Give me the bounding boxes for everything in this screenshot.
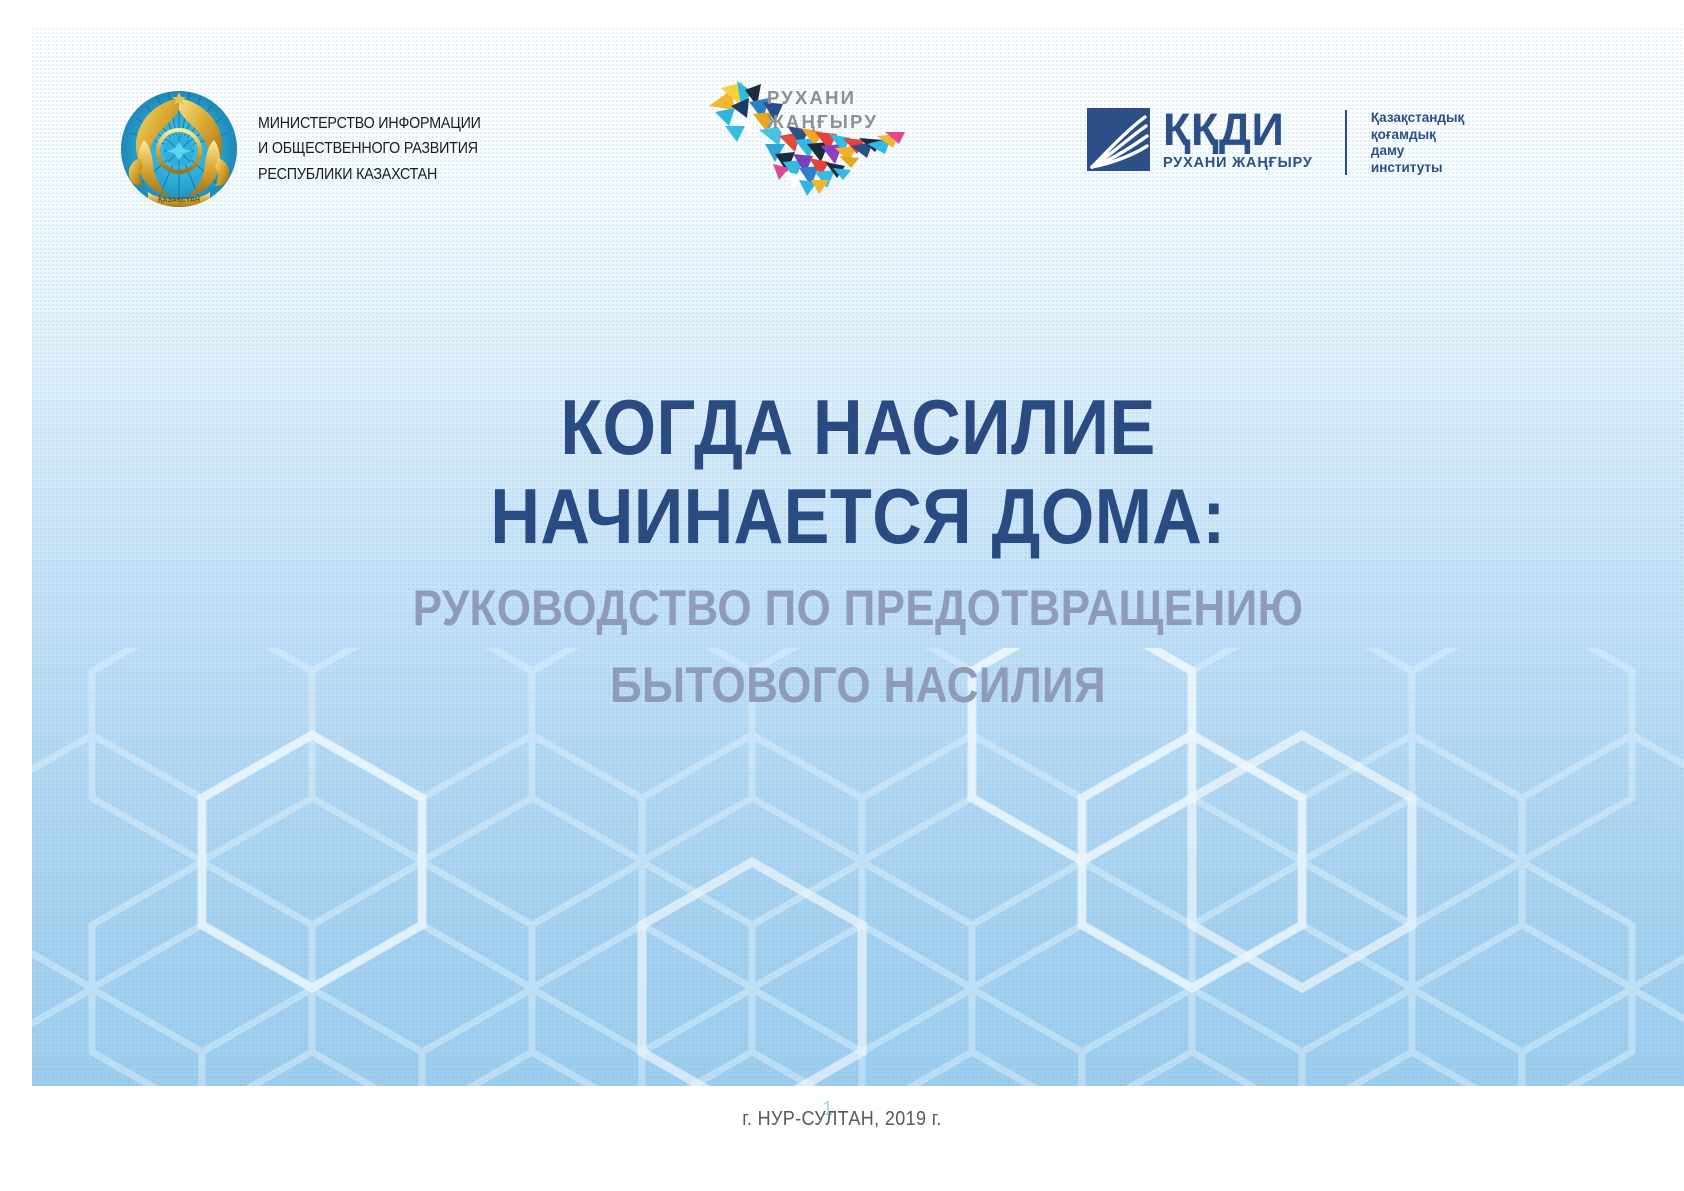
imprint-line: г. НУР-СУЛТАН, 2019 г. xyxy=(84,1108,1600,1131)
cover-title-block: КОГДА НАСИЛИЕ НАЧИНАЕТСЯ ДОМА: РУКОВОДСТ… xyxy=(32,383,1684,715)
title-sub-line-1: РУКОВОДСТВО ПО ПРЕДОТВРАЩЕНИЮ xyxy=(131,579,1585,638)
ministry-logo: ҚАЗАҚСТАН МИНИСТЕРСТВО ИНФОРМАЦИИ И ОБЩЕ… xyxy=(118,88,500,210)
qqdi-divider xyxy=(1345,110,1347,175)
title-sub-line-2: БЫТОВОГО НАСИЛИЯ xyxy=(131,656,1585,715)
qqdi-logo: ҚҚДИ РУХАНИ ЖАҢҒЫРУ Қазақстандық қоғамды… xyxy=(1087,108,1464,177)
ministry-name-line-1: МИНИСТЕРСТВО ИНФОРМАЦИИ xyxy=(258,111,481,136)
rukhani-zhangyru-label: РУХАНИ ЖАҢҒЫРУ xyxy=(767,86,878,135)
kazakhstan-state-emblem-icon: ҚАЗАҚСТАН xyxy=(118,88,240,210)
cover-page: ҚАЗАҚСТАН МИНИСТЕРСТВО ИНФОРМАЦИИ И ОБЩЕ… xyxy=(0,0,1684,1191)
qqdi-square-rays-icon xyxy=(1087,108,1150,171)
qqdi-full-name-line-1: Қазақстандық xyxy=(1371,110,1464,127)
qqdi-full-name: Қазақстандық қоғамдық даму институты xyxy=(1371,108,1464,177)
title-main-line-1: КОГДА НАСИЛИЕ xyxy=(131,383,1585,472)
ministry-name: МИНИСТЕРСТВО ИНФОРМАЦИИ И ОБЩЕСТВЕННОГО … xyxy=(258,111,481,186)
qqdi-full-name-line-4: институты xyxy=(1371,160,1464,177)
cover-artwork-area: ҚАЗАҚСТАН МИНИСТЕРСТВО ИНФОРМАЦИИ И ОБЩЕ… xyxy=(32,28,1684,1086)
qqdi-abbreviation: ҚҚДИ xyxy=(1163,109,1319,150)
svg-text:ҚАЗАҚСТАН: ҚАЗАҚСТАН xyxy=(158,197,200,204)
rz-label-line-2: ЖАҢҒЫРУ xyxy=(767,110,878,134)
qqdi-wordmark: ҚҚДИ РУХАНИ ЖАҢҒЫРУ xyxy=(1163,108,1319,170)
ministry-name-line-2: И ОБЩЕСТВЕННОГО РАЗВИТИЯ xyxy=(258,136,481,161)
rz-label-line-1: РУХАНИ xyxy=(767,86,878,110)
qqdi-full-name-line-3: даму xyxy=(1371,143,1464,160)
qqdi-full-name-line-2: қоғамдық xyxy=(1371,127,1464,144)
ministry-name-line-3: РЕСПУБЛИКИ КАЗАХСТАН xyxy=(258,162,481,187)
title-main-line-2: НАЧИНАЕТСЯ ДОМА: xyxy=(131,472,1585,561)
qqdi-tagline: РУХАНИ ЖАҢҒЫРУ xyxy=(1163,155,1313,170)
logo-row: ҚАЗАҚСТАН МИНИСТЕРСТВО ИНФОРМАЦИИ И ОБЩЕ… xyxy=(32,28,1684,218)
